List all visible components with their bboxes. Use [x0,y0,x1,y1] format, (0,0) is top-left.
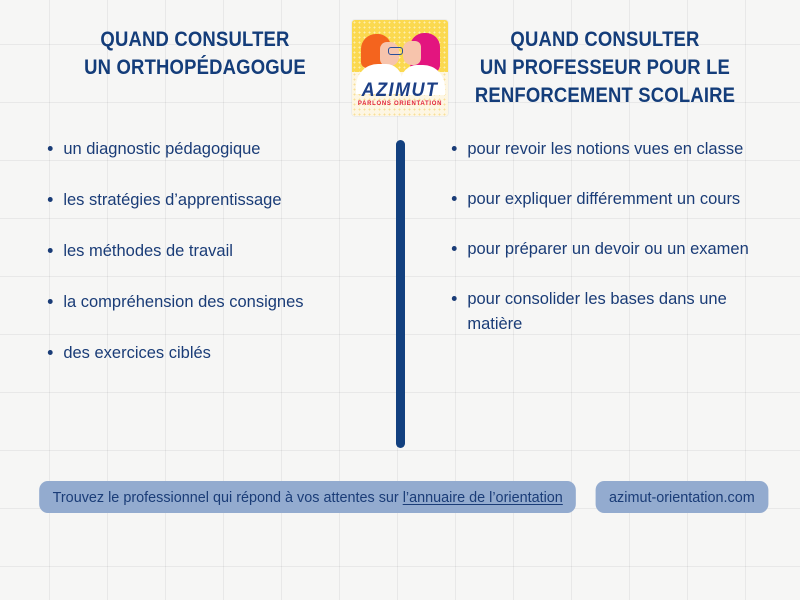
logo-brand-text: AZIMUT [354,80,445,102]
footer-banner: Trouvez le professionnel qui répond à vo… [0,480,800,513]
logo-tagline-text: PARLONS ORIENTATION [352,101,448,107]
page-title-right: QUAND CONSULTER UN PROFESSEUR POUR LE RE… [469,26,742,110]
page-title-right-line2: UN PROFESSEUR POUR LE [469,54,742,82]
page-title-left: QUAND CONSULTER UN ORTHOPÉDAGOGUE [59,26,332,82]
column-divider [396,140,405,448]
logo-right-person-face-icon [403,41,421,65]
footer-line-2[interactable]: azimut-orientation.com [596,481,769,513]
logo-left-person-glasses-icon [388,47,403,55]
footer-line-1: Trouvez le professionnel qui répond à vo… [39,481,576,513]
list-item: les stratégies d’apprentissage [42,187,352,212]
infographic-canvas: QUAND CONSULTER UN ORTHOPÉDAGOGUE AZIMUT… [0,0,800,600]
list-item: les méthodes de travail [42,238,352,263]
left-column-list: un diagnostic pédagogique les stratégies… [42,136,362,391]
list-item: un diagnostic pédagogique [42,136,352,161]
footer-line-1-text: Trouvez le professionnel qui répond à vo… [53,489,403,506]
right-column-list: pour revoir les notions vues en classe p… [446,136,764,361]
page-title-left-line2: UN ORTHOPÉDAGOGUE [59,54,332,82]
list-item: la compréhension des consignes [42,289,352,314]
list-item: pour expliquer différemment un cours [446,186,754,211]
page-title-left-line1: QUAND CONSULTER [59,26,332,54]
list-item: pour consolider les bases dans une matiè… [446,286,754,336]
list-item: des exercices ciblés [42,340,352,365]
list-item: pour revoir les notions vues en classe [446,136,754,161]
list-item: pour préparer un devoir ou un examen [446,236,754,261]
page-title-right-line3: RENFORCEMENT SCOLAIRE [469,82,742,110]
directory-link[interactable]: l’annuaire de l’orientation [403,489,563,506]
azimut-logo: AZIMUT PARLONS ORIENTATION [352,20,448,116]
header-row: QUAND CONSULTER UN ORTHOPÉDAGOGUE AZIMUT… [0,0,800,130]
page-title-right-line1: QUAND CONSULTER [469,26,742,54]
